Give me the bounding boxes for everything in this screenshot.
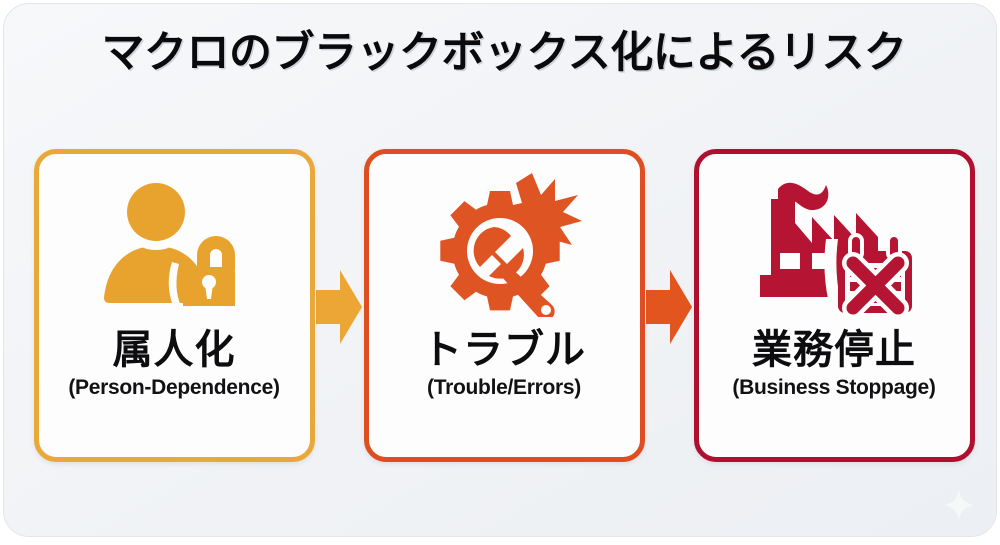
person-lock-icon	[39, 154, 310, 329]
card-subtitle: (Trouble/Errors)	[427, 376, 581, 400]
flow-card-business-stoppage[interactable]: 業務停止 (Business Stoppage)	[694, 149, 975, 462]
page-title: マクロのブラックボックス化によるリスク	[4, 18, 997, 80]
card-subtitle: (Person-Dependence)	[68, 376, 279, 400]
risk-flow: 属人化 (Person-Dependence)	[4, 149, 997, 464]
sparkle-icon	[942, 488, 976, 522]
card-title: トラブル	[422, 329, 586, 371]
card-subtitle: (Business Stoppage)	[732, 376, 935, 400]
flow-arrow-1	[315, 149, 364, 464]
flow-arrow-2	[645, 149, 694, 464]
slide-panel: マクロのブラックボックス化によるリスク	[3, 3, 997, 537]
flow-card-trouble-errors[interactable]: トラブル (Trouble/Errors)	[364, 149, 645, 462]
flow-card-person-dependence[interactable]: 属人化 (Person-Dependence)	[34, 149, 315, 462]
gear-wrench-burst-icon	[369, 154, 640, 329]
card-title: 属人化	[113, 329, 236, 371]
card-title: 業務停止	[752, 329, 916, 371]
factory-calendar-x-icon	[699, 154, 970, 329]
slide-canvas: マクロのブラックボックス化によるリスク	[0, 0, 1000, 545]
